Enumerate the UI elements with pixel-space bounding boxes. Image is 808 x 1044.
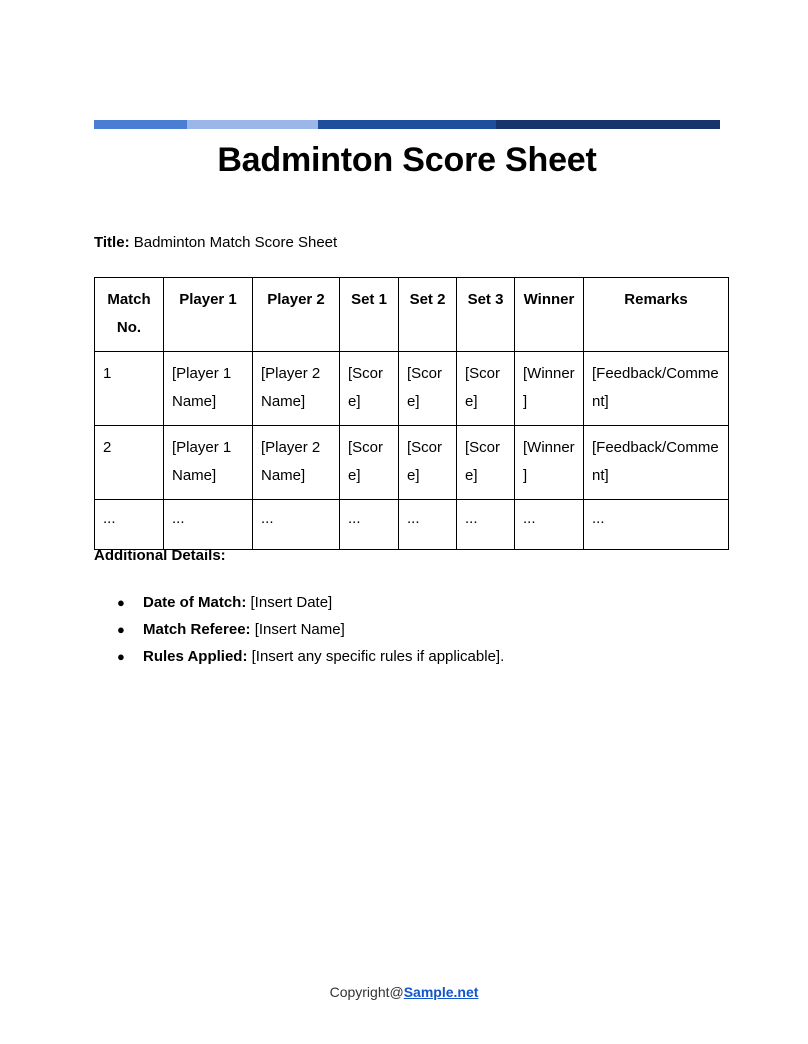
column-header-player-2: Player 2 [253,278,340,352]
cell-match-no[interactable]: 2 [95,426,164,500]
column-header-set-1: Set 1 [340,278,399,352]
cell-match-no[interactable]: ... [95,500,164,550]
bullet-icon: ● [117,643,125,670]
cell-set-2[interactable]: [Score] [399,352,457,426]
cell-set-2[interactable]: [Score] [399,426,457,500]
header-bar-segment-3 [318,120,496,129]
cell-player-2[interactable]: ... [253,500,340,550]
column-header-player-1: Player 1 [164,278,253,352]
bullet-icon: ● [117,616,125,643]
footer: Copyright@Sample.net [0,983,808,1001]
detail-label-rules-applied: Rules Applied: [143,648,247,665]
cell-set-1[interactable]: [Score] [340,352,399,426]
header-color-bar [94,120,720,129]
bullet-icon: ● [117,589,125,616]
column-header-match-no: Match No. [95,278,164,352]
cell-player-1[interactable]: [Player 1 Name] [164,426,253,500]
list-item: ● Match Referee: [Insert Name] [94,616,504,643]
cell-player-2[interactable]: [Player 2 Name] [253,352,340,426]
header-bar-segment-2 [187,120,318,129]
cell-remarks[interactable]: ... [584,500,729,550]
cell-player-1[interactable]: [Player 1 Name] [164,352,253,426]
title-value: Badminton Match Score Sheet [134,234,337,251]
list-item: ● Date of Match: [Insert Date] [94,589,504,616]
score-table: Match No. Player 1 Player 2 Set 1 Set 2 … [94,277,729,550]
cell-player-2[interactable]: [Player 2 Name] [253,426,340,500]
detail-value-match-referee[interactable]: [Insert Name] [255,621,345,638]
copyright-text: Copyright@ [330,984,404,1000]
column-header-set-3: Set 3 [457,278,515,352]
detail-label-match-referee: Match Referee: [143,621,251,638]
table-row: 2 [Player 1 Name] [Player 2 Name] [Score… [95,426,729,500]
sample-net-link[interactable]: Sample.net [404,984,479,1000]
cell-winner[interactable]: [Winner] [515,426,584,500]
table-header-row: Match No. Player 1 Player 2 Set 1 Set 2 … [95,278,729,352]
table-row: ... ... ... ... ... ... ... ... [95,500,729,550]
cell-remarks[interactable]: [Feedback/Comment] [584,426,729,500]
title-line: Title: Badminton Match Score Sheet [94,233,337,253]
cell-set-2[interactable]: ... [399,500,457,550]
detail-label-date-of-match: Date of Match: [143,594,246,611]
column-header-set-2: Set 2 [399,278,457,352]
header-bar-segment-1 [94,120,187,129]
additional-details-list: ● Date of Match: [Insert Date] ● Match R… [94,589,504,670]
detail-value-date-of-match[interactable]: [Insert Date] [251,594,333,611]
cell-set-3[interactable]: ... [457,500,515,550]
cell-player-1[interactable]: ... [164,500,253,550]
cell-set-3[interactable]: [Score] [457,426,515,500]
page-title: Badminton Score Sheet [94,138,720,182]
table-row: 1 [Player 1 Name] [Player 2 Name] [Score… [95,352,729,426]
additional-details-heading: Additional Details: [94,546,226,566]
cell-set-1[interactable]: [Score] [340,426,399,500]
cell-winner[interactable]: [Winner] [515,352,584,426]
cell-set-1[interactable]: ... [340,500,399,550]
header-bar-segment-4 [496,120,720,129]
cell-remarks[interactable]: [Feedback/Comment] [584,352,729,426]
column-header-remarks: Remarks [584,278,729,352]
cell-winner[interactable]: ... [515,500,584,550]
title-label: Title: [94,234,130,251]
cell-set-3[interactable]: [Score] [457,352,515,426]
list-item: ● Rules Applied: [Insert any specific ru… [94,643,504,670]
document-page: Badminton Score Sheet Title: Badminton M… [0,0,808,1044]
column-header-winner: Winner [515,278,584,352]
cell-match-no[interactable]: 1 [95,352,164,426]
detail-value-rules-applied[interactable]: [Insert any specific rules if applicable… [252,648,505,665]
